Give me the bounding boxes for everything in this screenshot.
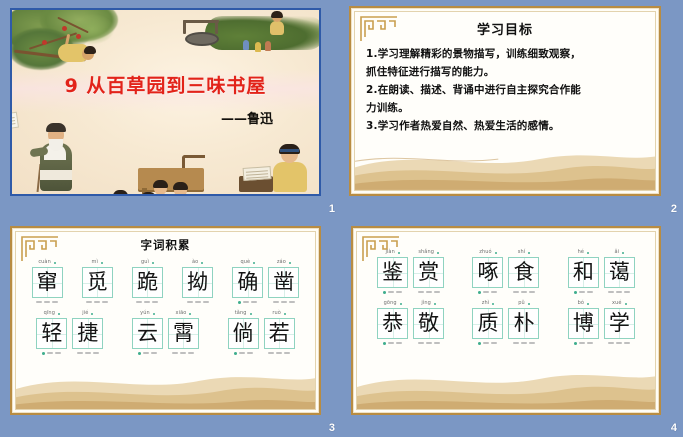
- character-glyph: 云: [137, 323, 158, 344]
- open-book: [12, 111, 19, 130]
- card-group: zhì 质 pǔ 朴: [470, 299, 542, 347]
- pinyin-label: pǔ: [518, 301, 525, 306]
- student-desk: [138, 168, 204, 190]
- pinyin-label: ruò: [272, 311, 281, 316]
- tone-dot-icon: [201, 262, 203, 264]
- slide-number-4: 4: [671, 423, 677, 434]
- tianzige-grid[interactable]: 确: [232, 267, 263, 298]
- pinyin-label: zhuó: [479, 250, 491, 255]
- character-glyph: 恭: [382, 313, 403, 334]
- pinyin-label: shí: [518, 250, 525, 255]
- card-group: bó 博 xué 学: [565, 299, 637, 347]
- tianzige-grid[interactable]: 凿: [268, 267, 299, 298]
- pinyin-label: guì: [141, 260, 149, 265]
- marker-dot-icon: [42, 352, 45, 355]
- tianzige-grid[interactable]: 鉴: [377, 257, 408, 288]
- character-card[interactable]: záo 凿: [267, 258, 301, 306]
- character-card[interactable]: yún 云: [130, 309, 164, 357]
- slide-thumbnail-grid: 9 从百草园到三味书屋 ——鲁迅 1: [0, 0, 683, 437]
- character-glyph: 确: [237, 272, 258, 293]
- card-row: cuàn 窜 mì 觅: [22, 258, 309, 306]
- tianzige-grid[interactable]: 博: [568, 308, 599, 339]
- tone-dot-icon: [587, 303, 589, 305]
- tone-dot-icon: [189, 313, 191, 315]
- tone-dot-icon: [528, 252, 530, 254]
- character-card[interactable]: shí 食: [507, 248, 541, 296]
- character-card[interactable]: ruò 若: [262, 309, 296, 357]
- tianzige-grid[interactable]: 啄: [472, 257, 503, 288]
- character-glyph: 啄: [477, 262, 498, 283]
- slide-1-illustration: [12, 10, 319, 194]
- character-glyph: 若: [269, 323, 290, 344]
- tianzige-grid[interactable]: 霄: [168, 318, 199, 349]
- card-group: tǎng 倘 ruò 若: [225, 309, 297, 357]
- pinyin-label: zhì: [482, 301, 489, 306]
- climbing-child-figure: [58, 38, 92, 64]
- tianzige-grid[interactable]: 蔼: [604, 257, 635, 288]
- pinyin-label: què: [240, 260, 250, 265]
- tone-dot-icon: [528, 303, 530, 305]
- character-card[interactable]: bó 博: [566, 299, 600, 347]
- slide-2[interactable]: 学习目标 1.学习理解精彩的景物描写，训练细致观察， 抓住特征进行描写的能力。 …: [349, 6, 661, 196]
- reading-student-figure: [267, 146, 313, 192]
- character-card[interactable]: tǎng 倘: [226, 309, 260, 357]
- card-row: gōng 恭 jìng 敬 zh: [363, 299, 649, 347]
- character-glyph: 霄: [173, 323, 194, 344]
- character-card[interactable]: xué 学: [602, 299, 636, 347]
- pinyin-label: yún: [140, 311, 150, 316]
- tone-dot-icon: [398, 252, 400, 254]
- tone-dot-icon: [625, 303, 627, 305]
- card-group: cuàn 窜: [29, 258, 65, 306]
- marker-dot-icon: [478, 291, 481, 294]
- tone-dot-icon: [58, 313, 60, 315]
- character-card[interactable]: jiàn 鉴: [376, 248, 410, 296]
- tone-dot-icon: [289, 262, 291, 264]
- card-group: yún 云 xiāo 霄: [129, 309, 201, 357]
- slide-4[interactable]: jiàn 鉴 shǎng 赏 z: [351, 226, 661, 415]
- character-card[interactable]: gōng 恭: [376, 299, 410, 347]
- tianzige-grid[interactable]: 学: [604, 308, 635, 339]
- character-glyph: 朴: [513, 313, 534, 334]
- tianzige-grid[interactable]: 跪: [132, 267, 163, 298]
- pinyin-label: ǎi: [614, 250, 619, 255]
- slide-3-title: 字词积累: [16, 237, 315, 253]
- tianzige-grid[interactable]: 食: [508, 257, 539, 288]
- pinyin-label: bó: [578, 301, 584, 306]
- character-glyph: 学: [609, 313, 630, 334]
- pinyin-label: ào: [192, 260, 198, 265]
- character-glyph: 跪: [137, 272, 158, 293]
- card-group: què 确 záo 凿: [230, 258, 302, 306]
- marker-dot-icon: [383, 291, 386, 294]
- character-glyph: 倘: [233, 323, 254, 344]
- character-card[interactable]: ǎi 蔼: [602, 248, 636, 296]
- card-group: zhuó 啄 shí 食: [470, 248, 542, 296]
- tianzige-grid[interactable]: 倘: [228, 318, 259, 349]
- character-glyph: 敬: [418, 313, 439, 334]
- slide-cell-2[interactable]: 学习目标 1.学习理解精彩的景物描写，训练细致观察， 抓住特征进行描写的能力。 …: [341, 0, 683, 218]
- character-glyph: 拗: [187, 272, 208, 293]
- character-card[interactable]: cuàn 窜: [30, 258, 64, 306]
- tianzige-grid[interactable]: 若: [264, 318, 295, 349]
- character-glyph: 和: [573, 262, 594, 283]
- character-card[interactable]: shǎng 赏: [412, 248, 446, 296]
- tone-dot-icon: [152, 262, 154, 264]
- tone-dot-icon: [492, 303, 494, 305]
- objective-line: 抓住特征进行描写的能力。: [366, 63, 646, 81]
- tone-dot-icon: [587, 252, 589, 254]
- character-glyph: 轻: [41, 323, 62, 344]
- pinyin-label: xué: [612, 301, 622, 306]
- standing-child-figure: [269, 12, 285, 34]
- tianzige-grid[interactable]: 敬: [413, 308, 444, 339]
- card-group: ào 拗: [180, 258, 216, 306]
- character-glyph: 食: [513, 262, 534, 283]
- tone-dot-icon: [284, 313, 286, 315]
- character-card[interactable]: ào 拗: [181, 258, 215, 306]
- marker-dot-icon: [574, 291, 577, 294]
- card-group: jiàn 鉴 shǎng 赏: [375, 248, 447, 296]
- tianzige-grid[interactable]: 云: [132, 318, 163, 349]
- pinyin-label: záo: [277, 260, 286, 265]
- marker-dot-icon: [138, 352, 141, 355]
- tianzige-grid[interactable]: 和: [568, 257, 599, 288]
- objective-line: 3.学习作者热爱自然、热爱生活的感情。: [366, 117, 646, 135]
- character-card[interactable]: què 确: [231, 258, 265, 306]
- character-glyph: 蔼: [609, 262, 630, 283]
- teacher-figure: [36, 126, 76, 192]
- tianzige-grid[interactable]: 觅: [82, 267, 113, 298]
- pinyin-label: cuàn: [38, 260, 51, 265]
- character-card[interactable]: xiāo 霄: [166, 309, 200, 357]
- card-row: qīng 轻 jié 捷 yún: [22, 309, 309, 357]
- pinyin-label: jiàn: [385, 250, 394, 255]
- slide-cell-1[interactable]: 9 从百草园到三味书屋 ——鲁迅 1: [0, 0, 341, 218]
- slide-4-card-area: jiàn 鉴 shǎng 赏 z: [357, 232, 655, 347]
- character-card[interactable]: zhuó 啄: [471, 248, 505, 296]
- slide-number-1: 1: [329, 204, 335, 215]
- slide-2-title: 学习目标: [355, 19, 655, 38]
- objective-line: 力训练。: [366, 99, 646, 117]
- tone-dot-icon: [54, 262, 56, 264]
- tianzige-grid[interactable]: 质: [472, 308, 503, 339]
- pinyin-label: jìng: [421, 301, 431, 306]
- tianzige-grid[interactable]: 恭: [377, 308, 408, 339]
- slide-3-card-area: cuàn 窜 mì 觅: [16, 253, 315, 357]
- pinyin-label: shǎng: [418, 250, 434, 255]
- tone-dot-icon: [622, 252, 624, 254]
- slide-number-3: 3: [329, 423, 335, 434]
- tone-dot-icon: [253, 262, 255, 264]
- character-card[interactable]: jié 捷: [71, 309, 105, 357]
- slide-1-title: 9 从百草园到三味书屋: [12, 71, 319, 98]
- card-group: guì 跪: [129, 258, 165, 306]
- tone-dot-icon: [437, 252, 439, 254]
- tianzige-grid[interactable]: 轻: [36, 318, 67, 349]
- character-glyph: 质: [477, 313, 498, 334]
- slide-3[interactable]: 字词积累 cuàn 窜 mì: [10, 226, 321, 415]
- character-glyph: 赏: [418, 262, 439, 283]
- well-figure: [181, 20, 223, 46]
- pinyin-label: xiāo: [176, 311, 187, 316]
- character-glyph: 鉴: [382, 262, 403, 283]
- character-card[interactable]: zhì 质: [471, 299, 505, 347]
- pinyin-label: qīng: [44, 311, 55, 316]
- pinyin-label: gōng: [384, 301, 397, 306]
- marker-dot-icon: [383, 342, 386, 345]
- tone-dot-icon: [153, 313, 155, 315]
- character-card[interactable]: hé 和: [566, 248, 600, 296]
- tianzige-grid[interactable]: 赏: [413, 257, 444, 288]
- slide-2-objectives: 1.学习理解精彩的景物描写，训练细致观察， 抓住特征进行描写的能力。 2.在朗读…: [366, 45, 646, 135]
- marker-dot-icon: [234, 352, 237, 355]
- tianzige-grid[interactable]: 窜: [32, 267, 63, 298]
- pinyin-label: jié: [82, 311, 88, 316]
- card-group: qīng 轻 jié 捷: [34, 309, 106, 357]
- character-glyph: 凿: [273, 272, 294, 293]
- card-group: mì 觅: [79, 258, 115, 306]
- character-card[interactable]: pǔ 朴: [507, 299, 541, 347]
- card-row: jiàn 鉴 shǎng 赏 z: [363, 248, 649, 296]
- tianzige-grid[interactable]: 朴: [508, 308, 539, 339]
- character-glyph: 捷: [77, 323, 98, 344]
- objective-line: 1.学习理解精彩的景物描写，训练细致观察，: [366, 45, 646, 63]
- tianzige-grid[interactable]: 捷: [72, 318, 103, 349]
- tone-dot-icon: [434, 303, 436, 305]
- marker-dot-icon: [238, 301, 241, 304]
- slide-1[interactable]: 9 从百草园到三味书屋 ——鲁迅: [10, 8, 321, 196]
- character-card[interactable]: mì 觅: [80, 258, 114, 306]
- slide-number-2: 2: [671, 204, 677, 215]
- tone-dot-icon: [400, 303, 402, 305]
- objective-line: 2.在朗读、描述、背诵中进行自主探究合作能: [366, 81, 646, 99]
- card-group: hé 和 ǎi 蔼: [565, 248, 637, 296]
- slide-cell-3[interactable]: 字词积累 cuàn 窜 mì: [0, 218, 341, 437]
- marker-dot-icon: [478, 342, 481, 345]
- slide-1-author: ——鲁迅: [221, 108, 273, 127]
- slide-cell-4[interactable]: jiàn 鉴 shǎng 赏 z: [341, 218, 683, 437]
- tianzige-grid[interactable]: 拗: [182, 267, 213, 298]
- tone-dot-icon: [495, 252, 497, 254]
- tone-dot-icon: [91, 313, 93, 315]
- tone-dot-icon: [250, 313, 252, 315]
- character-glyph: 觅: [87, 272, 108, 293]
- pinyin-label: mì: [92, 260, 98, 265]
- character-glyph: 博: [573, 313, 594, 334]
- character-glyph: 窜: [37, 272, 58, 293]
- character-card[interactable]: qīng 轻: [35, 309, 69, 357]
- character-card[interactable]: jìng 敬: [412, 299, 446, 347]
- pinyin-label: hé: [578, 250, 584, 255]
- pinyin-label: tǎng: [235, 311, 247, 316]
- marker-dot-icon: [574, 342, 577, 345]
- card-group: gōng 恭 jìng 敬: [375, 299, 447, 347]
- tone-dot-icon: [101, 262, 103, 264]
- character-card[interactable]: guì 跪: [130, 258, 164, 306]
